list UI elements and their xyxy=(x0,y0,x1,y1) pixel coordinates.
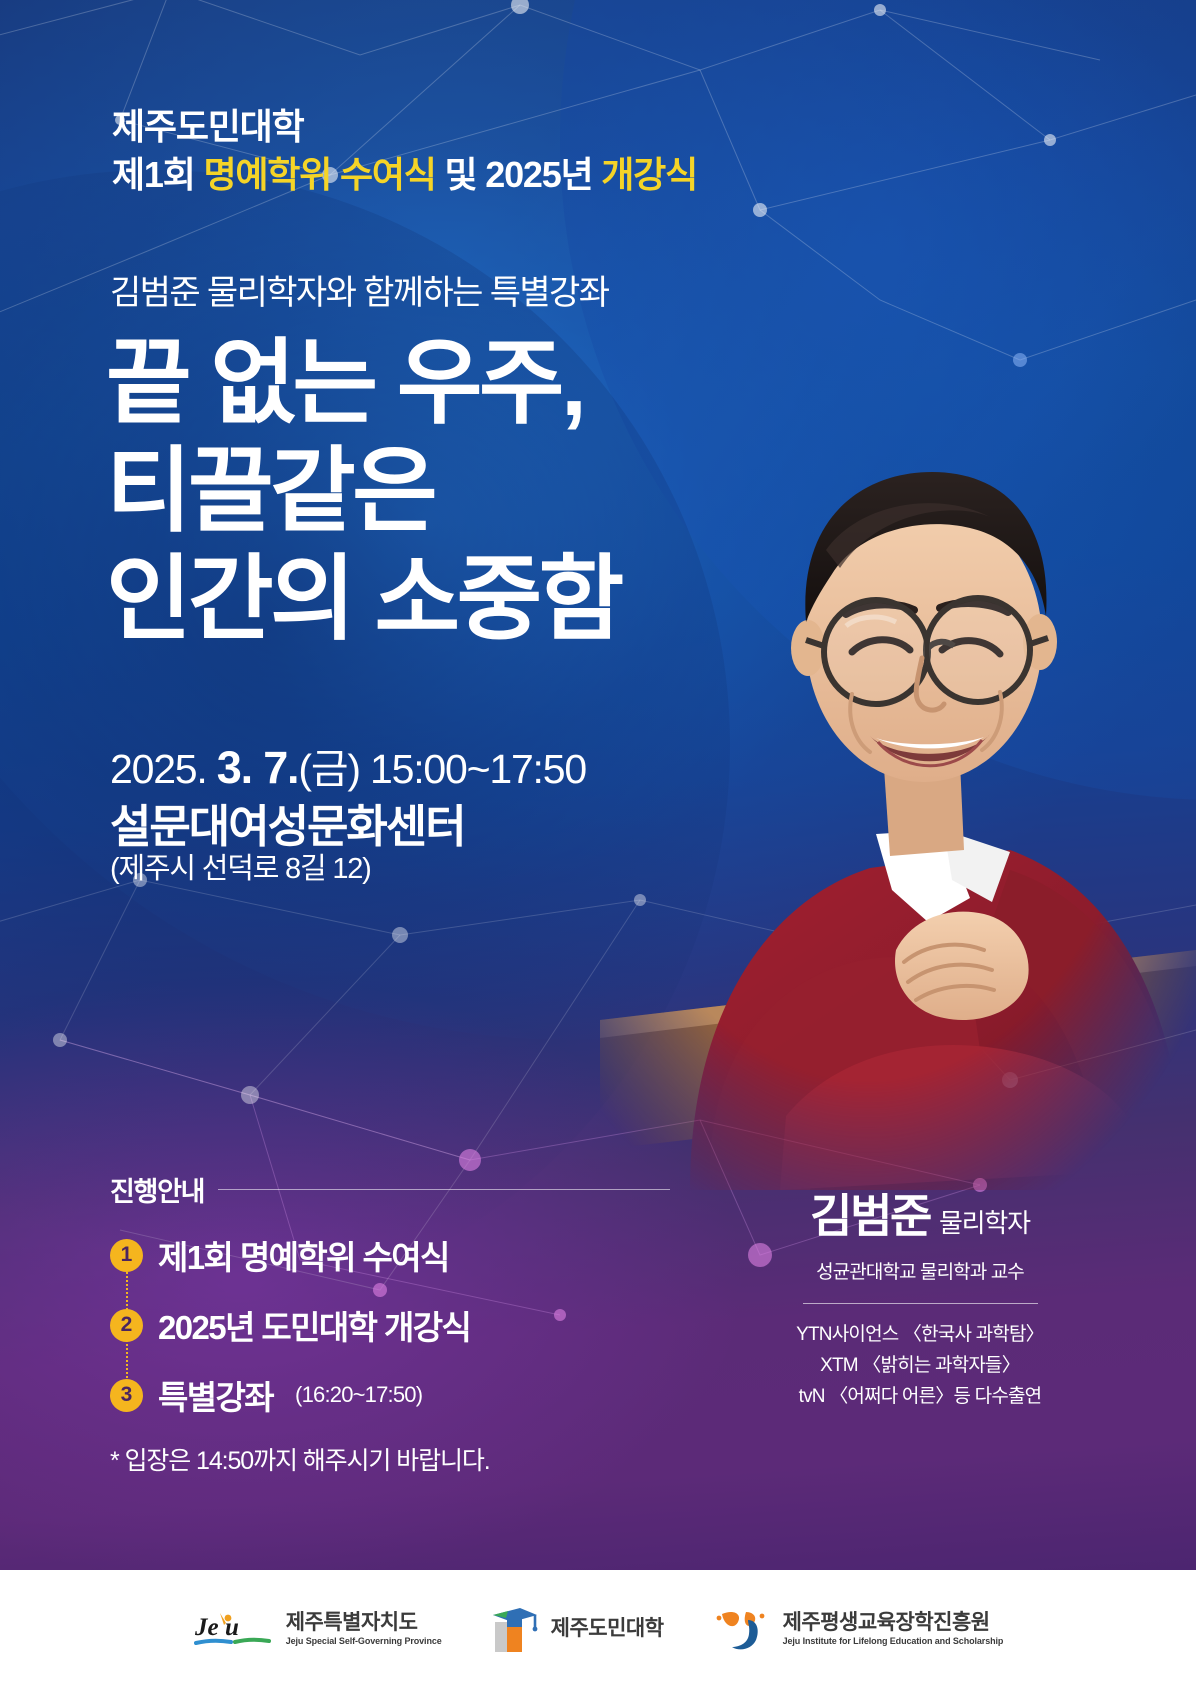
event-subtitle-line: 제1회 명예학위 수여식 및 2025년 개강식 xyxy=(112,152,697,198)
graduation-cap-logo-icon xyxy=(490,1606,540,1654)
event-datetime: 2025. 3. 7.(금) 15:00~17:50 xyxy=(110,735,586,795)
logo-jeju-province-text: 제주특별자치도 Jeju Special Self-Governing Prov… xyxy=(286,1612,442,1646)
program-item-list: 1 제1회 명예학위 수여식 2 2025년 도민대학 개강식 3 특별강좌 (… xyxy=(110,1231,670,1419)
speaker-photo xyxy=(540,250,1196,1190)
logo-jeju-citizen-university-text: 제주도민대학 xyxy=(551,1618,664,1640)
program-divider xyxy=(218,1189,670,1190)
program-guide-header: 진행안내 xyxy=(110,1170,670,1209)
speaker-credit: XTM 〈밝히는 과학자들〉 xyxy=(730,1351,1110,1382)
program-item-label: 특별강좌 xyxy=(158,1371,273,1419)
event-highlight-opening: 개강식 xyxy=(601,154,697,195)
event-month: 3. xyxy=(217,742,263,793)
speaker-role: 물리학자 xyxy=(939,1203,1030,1240)
lecture-title-line-3: 인간의 소중함 xyxy=(106,546,621,654)
speaker-credit-list: YTN사이언스 〈한국사 과학탐〉 XTM 〈밝히는 과학자들〉 tvN 〈어쩌… xyxy=(730,1320,1110,1412)
event-time-range: (금) 15:00~17:50 xyxy=(298,746,586,792)
event-day: 7. xyxy=(263,742,298,793)
speaker-credit: YTN사이언스 〈한국사 과학탐〉 xyxy=(730,1320,1110,1351)
lecture-title-line-2: 티끌같은 xyxy=(106,438,621,546)
speaker-name-row: 김범준 물리학자 xyxy=(730,1180,1110,1246)
lecture-title-line-1: 끝 없는 우주, xyxy=(106,330,621,438)
event-edition-text: 제1회 xyxy=(112,154,203,195)
logo-jeju-province: Je u 제주특별자치도 Jeju Special Self-Governing… xyxy=(193,1607,442,1653)
program-guide-title: 진행안내 xyxy=(110,1170,204,1209)
admission-note: * 입장은 14:50까지 해주시기 바랍니다. xyxy=(110,1441,670,1477)
event-highlight-ceremony: 명예학위 수여식 xyxy=(203,154,435,195)
speaker-divider xyxy=(803,1303,1038,1304)
program-guide: 진행안내 1 제1회 명예학위 수여식 2 2025년 도민대학 개강식 3 특… xyxy=(110,1170,670,1477)
program-item: 3 특별강좌 (16:20~17:50) xyxy=(110,1371,670,1419)
speaker-info: 김범준 물리학자 성균관대학교 물리학과 교수 YTN사이언스 〈한국사 과학탐… xyxy=(730,1180,1110,1412)
organization-name: 제주도민대학 xyxy=(112,104,697,150)
program-item-label: 2025년 도민대학 개강식 xyxy=(158,1301,470,1349)
logo-jeju-citizen-university: 제주도민대학 xyxy=(490,1606,664,1654)
program-step-badge: 1 xyxy=(110,1239,143,1272)
speaker-affiliation: 성균관대학교 물리학과 교수 xyxy=(730,1257,1110,1284)
speaker-credit: tvN 〈어쩌다 어른〉등 다수출연 xyxy=(730,1382,1110,1413)
event-address: (제주시 선덕로 8길 12) xyxy=(110,845,371,887)
program-item: 1 제1회 명예학위 수여식 xyxy=(110,1231,670,1279)
logo-jeju-institute: 제주평생교육장학진흥원 Jeju Institute for Lifelong … xyxy=(712,1606,1004,1654)
poster-canvas: 제주도민대학 제1회 명예학위 수여식 및 2025년 개강식 김범준 물리학자… xyxy=(0,0,1196,1689)
sponsor-footer: Je u 제주특별자치도 Jeju Special Self-Governing… xyxy=(0,1570,1196,1689)
program-item-label: 제1회 명예학위 수여식 xyxy=(158,1231,449,1279)
lecture-subtitle: 김범준 물리학자와 함께하는 특별강좌 xyxy=(110,265,608,314)
svg-text:Je: Je xyxy=(194,1614,219,1641)
logo-label-ko: 제주특별자치도 xyxy=(286,1612,442,1634)
program-step-badge: 3 xyxy=(110,1379,143,1412)
event-conjunction-text: 및 2025년 xyxy=(436,154,602,195)
logo-label-ko: 제주도민대학 xyxy=(551,1618,664,1640)
jeju-institute-logo-icon xyxy=(712,1606,772,1654)
program-item-time: (16:20~17:50) xyxy=(295,1382,422,1408)
logo-label-en: Jeju Institute for Lifelong Education an… xyxy=(783,1637,1004,1646)
event-header: 제주도민대학 제1회 명예학위 수여식 및 2025년 개강식 xyxy=(112,104,697,198)
program-step-badge: 2 xyxy=(110,1309,143,1342)
logo-label-en: Jeju Special Self-Governing Province xyxy=(286,1637,442,1646)
event-year: 2025. xyxy=(110,746,217,792)
logo-jeju-institute-text: 제주평생교육장학진흥원 Jeju Institute for Lifelong … xyxy=(783,1612,1004,1646)
program-item: 2 2025년 도민대학 개강식 xyxy=(110,1301,670,1349)
speaker-name: 김범준 xyxy=(810,1180,930,1246)
lecture-title: 끝 없는 우주, 티끌같은 인간의 소중함 xyxy=(106,330,621,654)
logo-label-ko: 제주평생교육장학진흥원 xyxy=(783,1612,1004,1634)
jeju-wordmark-logo-icon: Je u xyxy=(193,1607,275,1653)
